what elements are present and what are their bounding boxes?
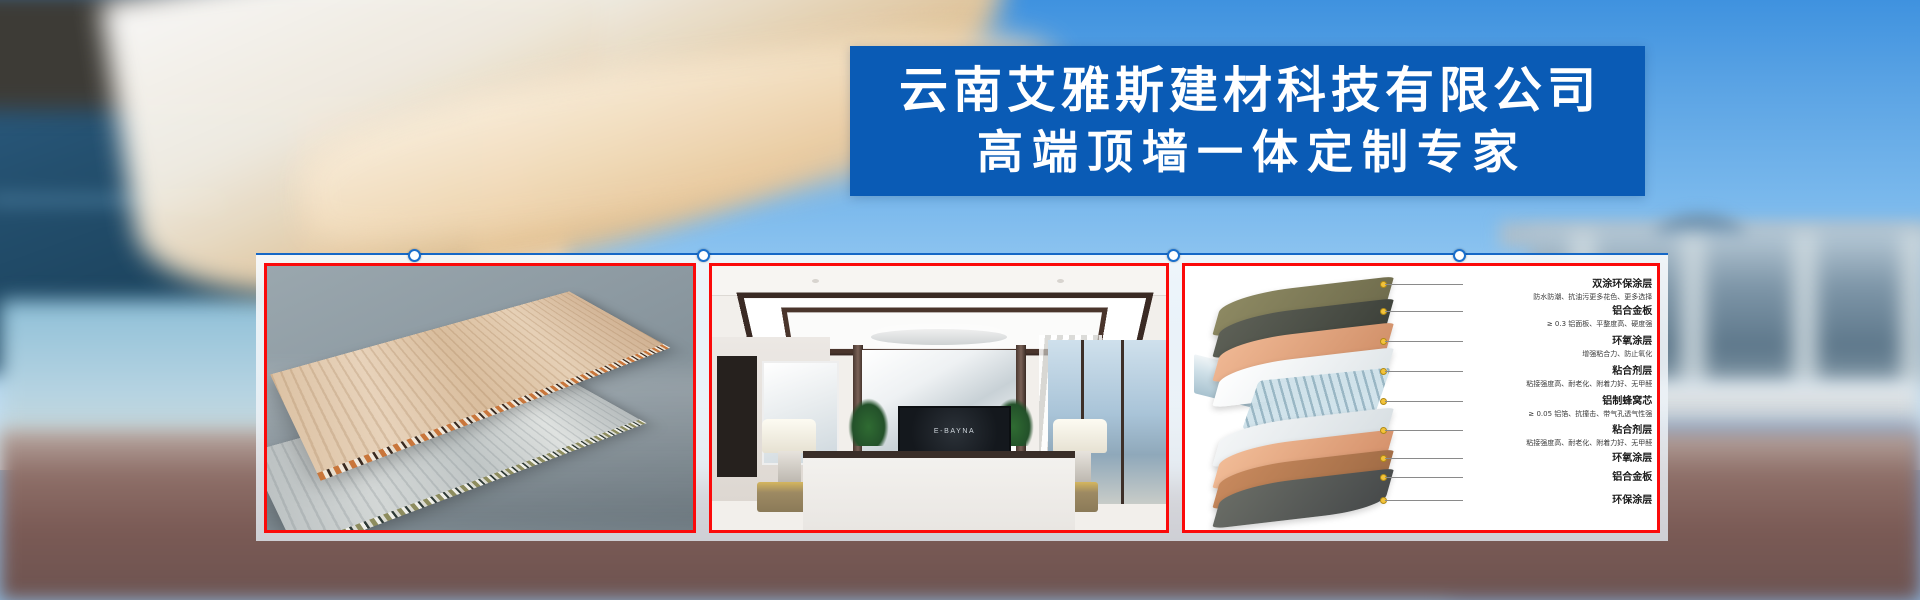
layer-desc: ≥ 0.05 铝箔、抗撞击、带气孔透气性强: [1463, 409, 1652, 419]
table-lamp-shade-left: [762, 419, 816, 453]
side-table-left: [757, 482, 807, 511]
layer-title: 双涂环保涂层: [1463, 279, 1652, 291]
layer-desc: 防水防潮、抗油污更多花色、更多选择: [1463, 292, 1652, 302]
resize-handle-mid-1[interactable]: [697, 249, 710, 262]
table-lamp-shade-right: [1053, 419, 1107, 453]
layer-label-list: 双涂环保涂层 防水防潮、抗油污更多花色、更多选择 铝合金板 ≥ 0.3 铝面板、…: [1463, 274, 1652, 522]
layer-label-3: 环氧涂层 增强粘合力、防止氧化: [1463, 336, 1652, 359]
layer-title: 粘合剂层: [1463, 425, 1652, 437]
company-slogan-line2: 高端顶墙一体定制专家: [968, 122, 1527, 182]
layer-label-6: 粘合剂层 粘接强度高、耐老化、附着力好、无甲醛: [1463, 425, 1652, 448]
product-image-interior-render[interactable]: E-BAYNA: [709, 263, 1169, 533]
layer-title: 铝制蜂窝芯: [1463, 396, 1652, 408]
layer-label-7: 环氧涂层: [1463, 453, 1652, 465]
layer-desc: ≥ 0.3 铝面板、平整度高、硬度强: [1463, 319, 1652, 329]
banner-stage: 云南艾雅斯建材科技有限公司 高端顶墙一体定制专家: [0, 0, 1920, 600]
structure-diagram: 双涂环保涂层 防水防潮、抗油污更多花色、更多选择 铝合金板 ≥ 0.3 铝面板、…: [1185, 266, 1657, 530]
layer-title: 环保涂层: [1463, 495, 1652, 507]
layer-title: 环氧涂层: [1463, 453, 1652, 465]
layer-label-9: 环保涂层: [1463, 495, 1652, 507]
resize-handle-right[interactable]: [1453, 249, 1466, 262]
company-name-line1: 云南艾雅斯建材科技有限公司: [894, 60, 1601, 122]
layer-label-2: 铝合金板 ≥ 0.3 铝面板、平整度高、硬度强: [1463, 306, 1652, 329]
layer-label-5: 铝制蜂窝芯 ≥ 0.05 铝箔、抗撞击、带气孔透气性强: [1463, 396, 1652, 419]
sofa-back-counter: [803, 451, 1075, 530]
layer-desc: 增强粘合力、防止氧化: [1463, 349, 1652, 359]
resize-handle-left[interactable]: [408, 249, 421, 262]
product-image-honeycomb-panel[interactable]: [264, 263, 696, 533]
left-cabinet: [717, 356, 758, 477]
layer-title: 环氧涂层: [1463, 336, 1652, 348]
company-name-banner: 云南艾雅斯建材科技有限公司 高端顶墙一体定制专家: [850, 46, 1645, 196]
tv-brand-label: E-BAYNA: [900, 428, 1009, 435]
plant-left: [848, 398, 889, 446]
exploded-layer-artwork: [1194, 277, 1458, 520]
layer-desc: 粘接强度高、耐老化、附着力好、无甲醛: [1463, 379, 1652, 389]
layer-label-4: 粘合剂层 粘接强度高、耐老化、附着力好、无甲醛: [1463, 366, 1652, 389]
layer-title: 铝合金板: [1463, 306, 1652, 318]
layer-title: 铝合金板: [1463, 472, 1652, 484]
layer-title: 粘合剂层: [1463, 366, 1652, 378]
layer-label-8: 铝合金板: [1463, 472, 1652, 484]
layer-desc: 粘接强度高、耐老化、附着力好、无甲醛: [1463, 438, 1652, 448]
product-gallery-panel: E-BAYNA: [256, 253, 1668, 541]
interior-scene: E-BAYNA: [712, 266, 1166, 530]
layer-label-1: 双涂环保涂层 防水防潮、抗油污更多花色、更多选择: [1463, 279, 1652, 302]
product-image-structure-diagram[interactable]: 双涂环保涂层 防水防潮、抗油污更多花色、更多选择 铝合金板 ≥ 0.3 铝面板、…: [1182, 263, 1660, 533]
table-lamp-base-left: [778, 451, 801, 483]
resize-handle-mid-2[interactable]: [1167, 249, 1180, 262]
